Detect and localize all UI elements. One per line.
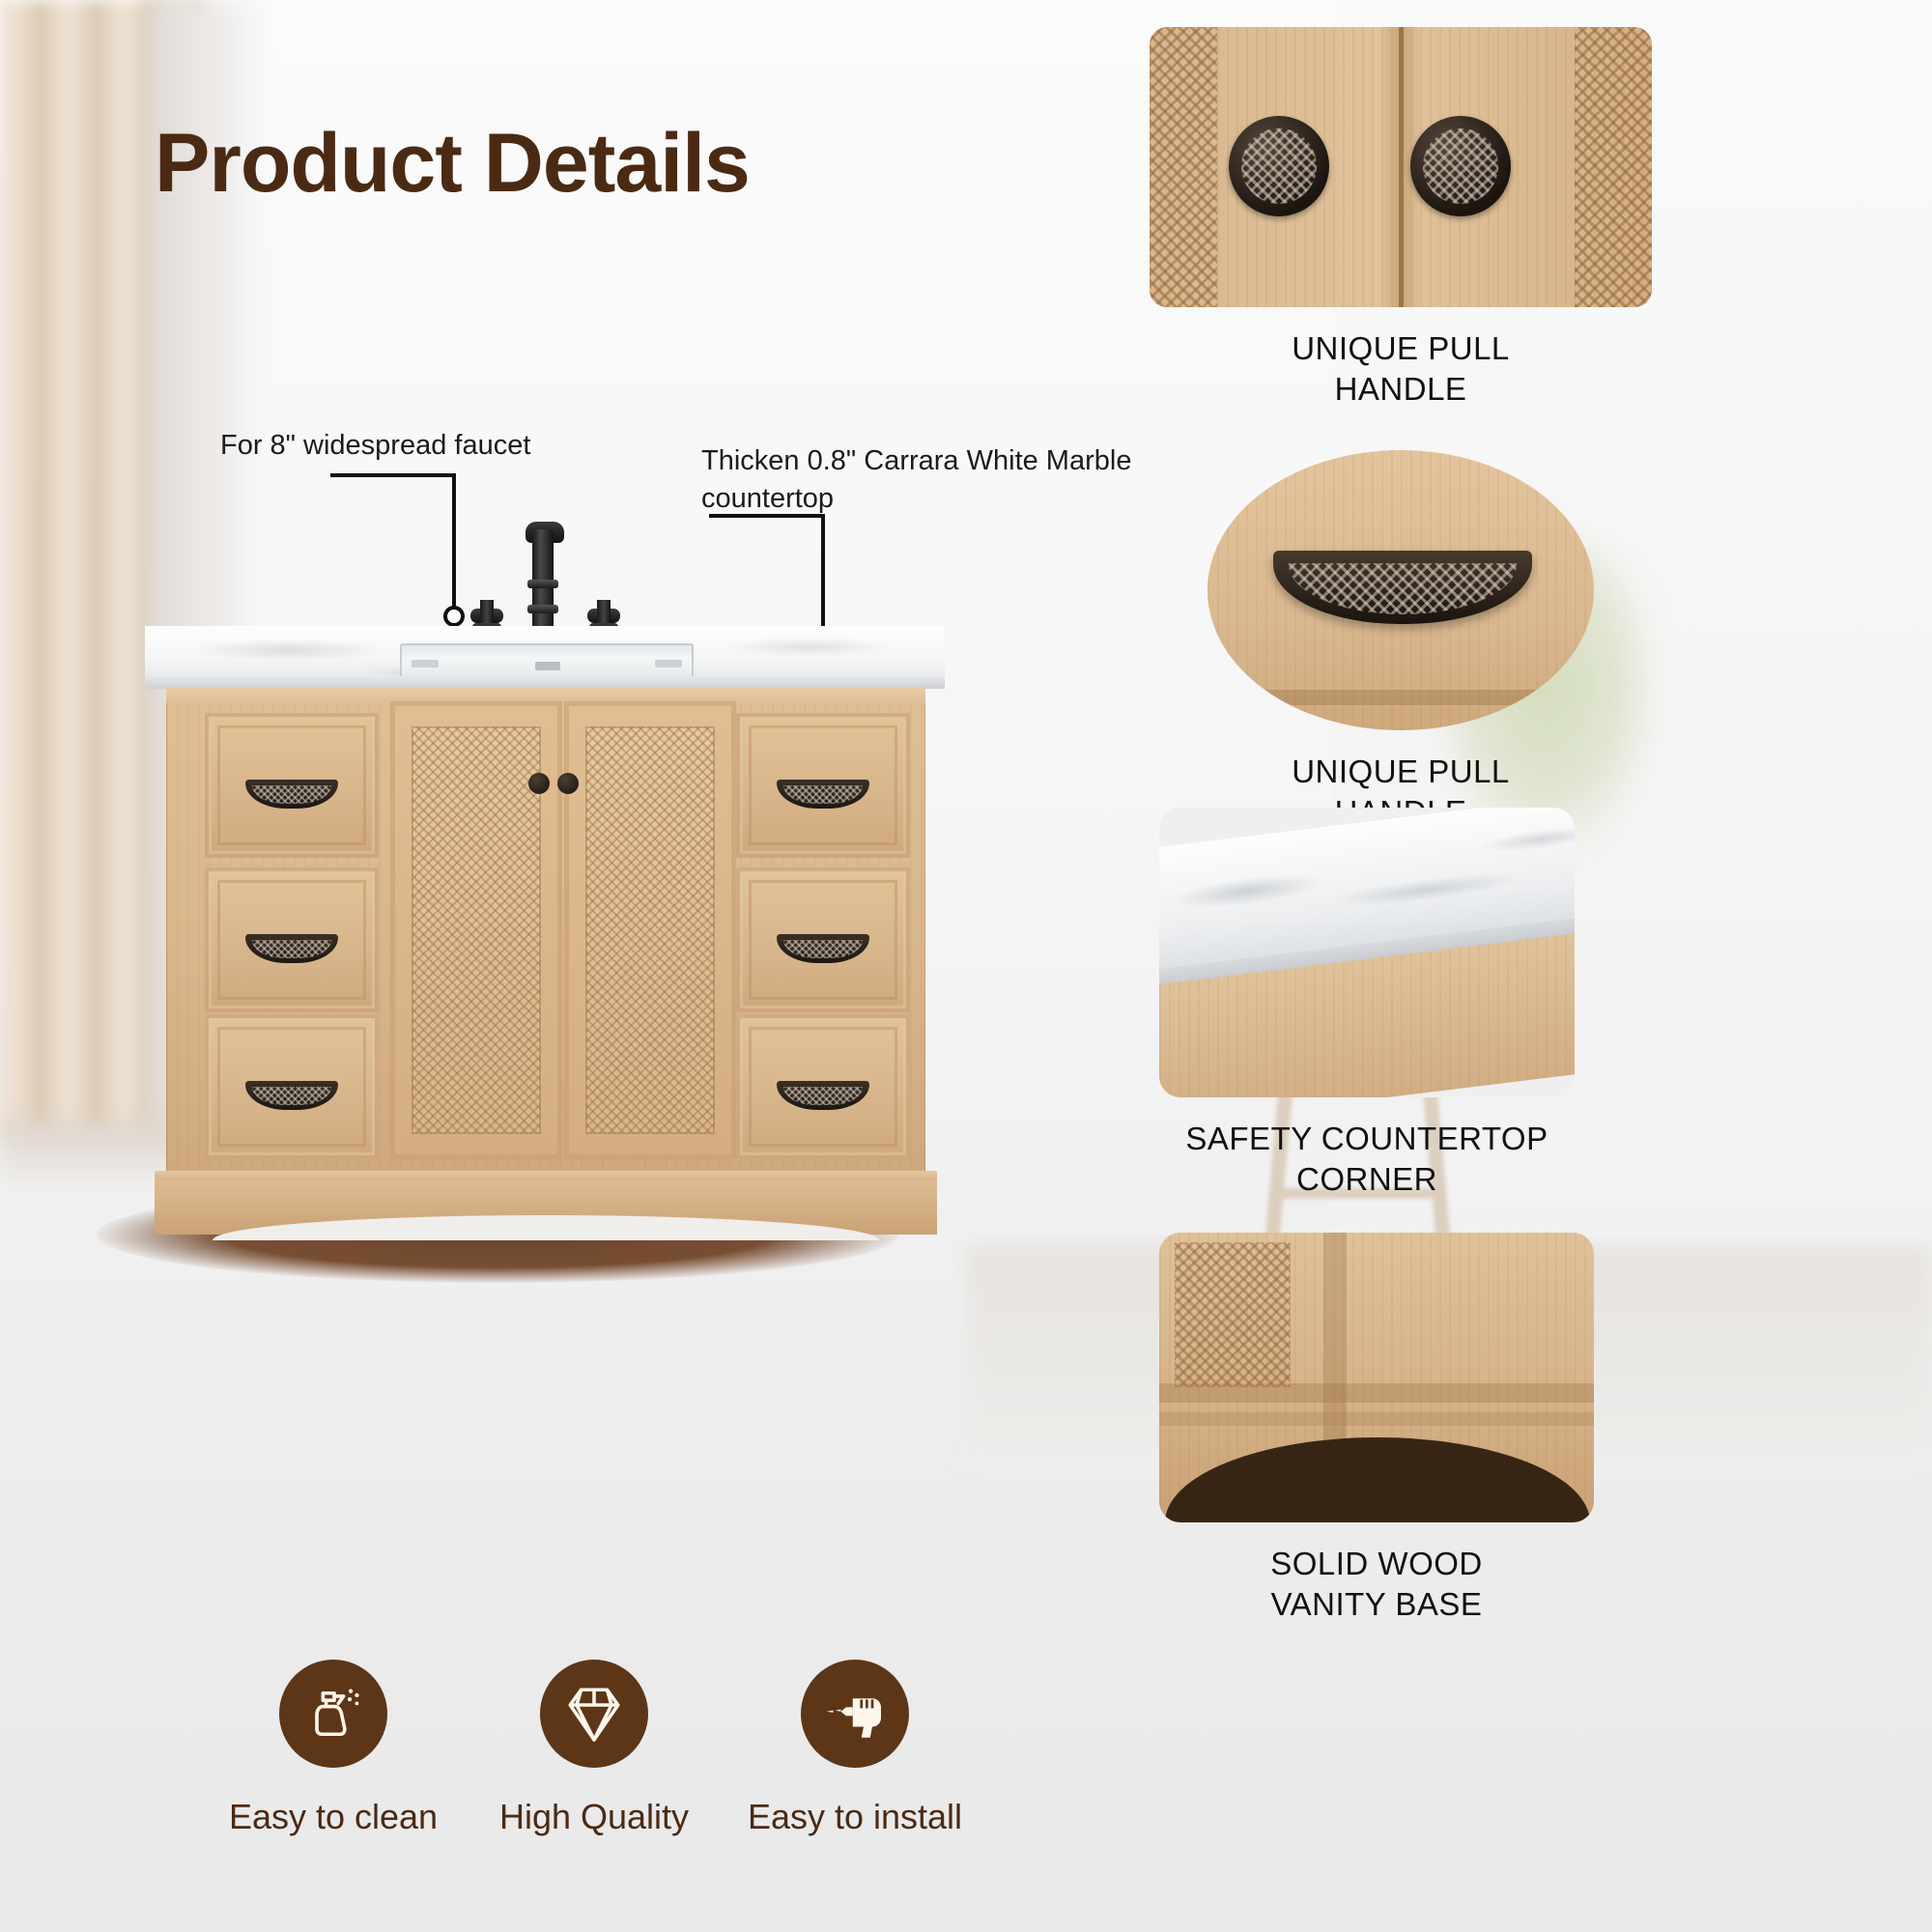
faucet-ring-1 xyxy=(527,580,558,588)
detail-rail: UNIQUE PULL HANDLE UNIQUE PULL HANDLE SA… xyxy=(1150,27,1913,1920)
drawer-right-3 xyxy=(736,1014,910,1159)
round-knob-icon xyxy=(1229,116,1329,216)
round-knob-icon xyxy=(1410,116,1511,216)
cabinet-knob-closeup-image xyxy=(1150,27,1652,307)
cup-pull-icon xyxy=(777,934,869,963)
detail-caption: SOLID WOOD VANITY BASE xyxy=(1159,1544,1594,1625)
cup-pull-icon xyxy=(777,1081,869,1110)
cup-pull-icon xyxy=(245,780,338,809)
drawer-right-1 xyxy=(736,713,910,858)
badge-high-quality: High Quality xyxy=(473,1660,715,1837)
vanity-base-closeup-image xyxy=(1159,1233,1594,1522)
cup-pull-icon xyxy=(245,934,338,963)
detail-cell-knob: UNIQUE PULL HANDLE xyxy=(1150,27,1652,410)
drawer-right-2 xyxy=(736,867,910,1012)
detail-cell-corner: SAFETY COUNTERTOP CORNER xyxy=(1159,808,1662,1200)
cabinet-door-left xyxy=(390,701,562,1159)
badge-label: High Quality xyxy=(473,1797,715,1837)
marble-corner-closeup-image xyxy=(1159,808,1575,1097)
badge-label: Easy to clean xyxy=(213,1797,454,1837)
cup-pull-icon xyxy=(777,780,869,809)
badge-label: Easy to install xyxy=(734,1797,976,1837)
cup-pull-closeup-image xyxy=(1207,450,1594,730)
rattan-panel xyxy=(412,726,541,1134)
detail-caption: SAFETY COUNTERTOP CORNER xyxy=(1159,1119,1575,1200)
drill-icon xyxy=(801,1660,909,1768)
door-knob-left xyxy=(528,773,550,794)
cup-pull-icon xyxy=(245,1081,338,1110)
faucet-ring-2 xyxy=(527,605,558,613)
drawer-left-3 xyxy=(205,1014,379,1159)
drawer-left-2 xyxy=(205,867,379,1012)
door-knob-right xyxy=(557,773,579,794)
feature-badges: Easy to clean High Quality xyxy=(213,1660,976,1891)
cabinet-door-right xyxy=(564,701,736,1159)
badge-easy-to-install: Easy to install xyxy=(734,1660,976,1837)
detail-caption: UNIQUE PULL HANDLE xyxy=(1150,328,1652,410)
badge-easy-to-clean: Easy to clean xyxy=(213,1660,454,1837)
callout-countertop-label: Thicken 0.8" Carrara White Marble counte… xyxy=(701,442,1155,518)
detail-cell-base: SOLID WOOD VANITY BASE xyxy=(1159,1233,1662,1625)
detail-cell-cup-pull: UNIQUE PULL HANDLE xyxy=(1207,450,1710,833)
page-title: Product Details xyxy=(155,116,750,212)
rattan-panel xyxy=(585,726,715,1134)
spray-bottle-icon xyxy=(279,1660,387,1768)
drawer-left-1 xyxy=(205,713,379,858)
callout-faucet-label: For 8" widespread faucet xyxy=(220,427,530,465)
diamond-icon xyxy=(540,1660,648,1768)
